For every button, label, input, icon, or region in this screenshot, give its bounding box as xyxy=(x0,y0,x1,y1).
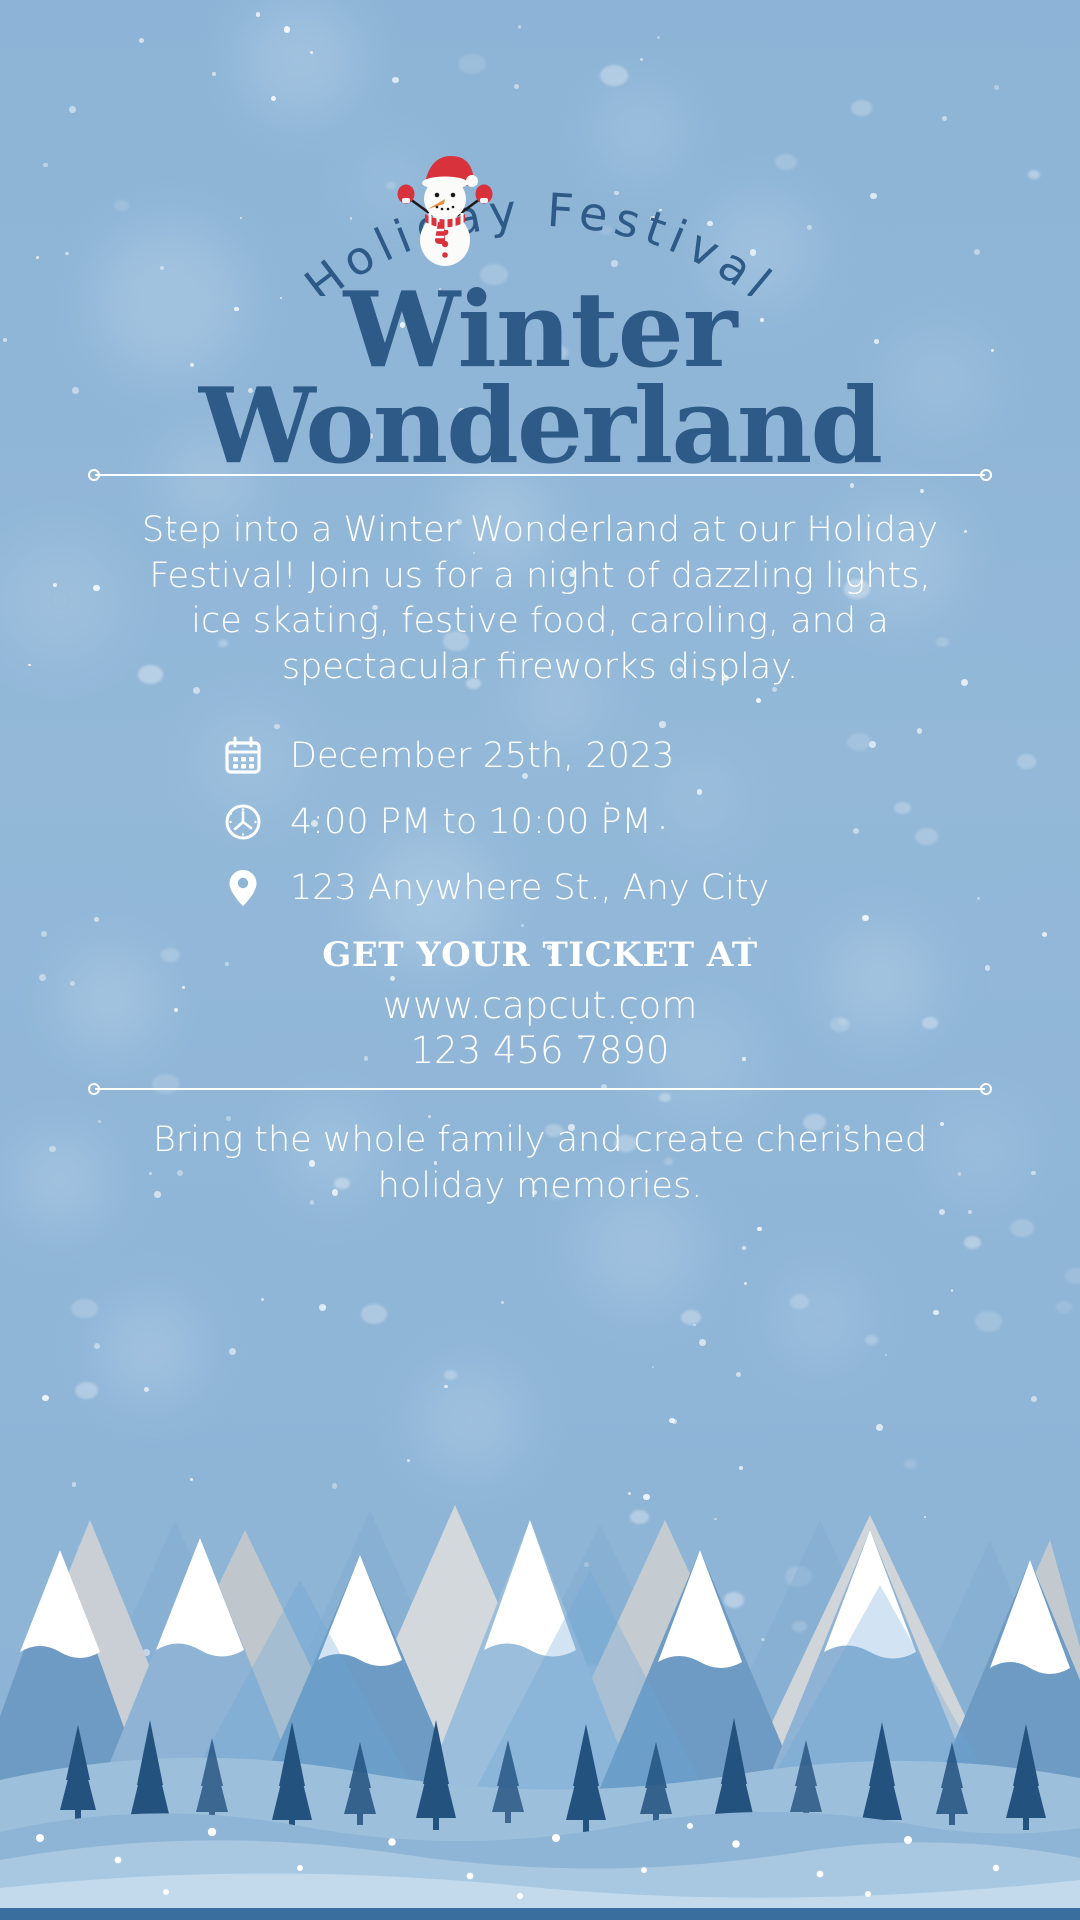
ticket-heading: GET YOUR TICKET AT xyxy=(0,935,1080,975)
ticket-section: GET YOUR TICKET AT www.capcut.com 123 45… xyxy=(0,935,1080,1073)
detail-row-date: December 25th, 2023 xyxy=(0,730,1080,782)
bottom-bar xyxy=(0,1908,1080,1920)
divider-cap-right xyxy=(980,469,992,481)
divider-cap-right xyxy=(980,1083,992,1095)
ticket-website[interactable]: www.capcut.com xyxy=(0,983,1080,1028)
poster-canvas: Holiday Festival xyxy=(0,0,1080,1920)
intro-paragraph: Step into a Winter Wonderland at our Hol… xyxy=(140,508,940,690)
calendar-icon xyxy=(218,731,268,781)
arched-heading: Holiday Festival xyxy=(0,96,1080,296)
detail-row-time: 4:00 PM to 10:00 PM xyxy=(0,796,1080,848)
detail-text-location: 123 Anywhere St., Any City xyxy=(290,868,769,908)
snowman-with-santa-hat-icon xyxy=(392,152,498,270)
page-title: Winter Wonderland xyxy=(0,282,1080,473)
event-details-list: December 25th, 2023 4:00 PM to 10 xyxy=(0,730,1080,928)
divider-top xyxy=(88,468,992,482)
title-line-2: Wonderland xyxy=(0,378,1080,474)
divider-bar xyxy=(95,1088,985,1090)
closing-paragraph: Bring the whole family and create cheris… xyxy=(110,1118,970,1209)
detail-text-date: December 25th, 2023 xyxy=(290,736,674,776)
divider-bottom xyxy=(88,1082,992,1096)
location-pin-icon xyxy=(218,863,268,913)
detail-text-time: 4:00 PM to 10:00 PM xyxy=(290,802,652,842)
clock-icon xyxy=(218,797,268,847)
divider-bar xyxy=(95,474,985,476)
ticket-phone[interactable]: 123 456 7890 xyxy=(0,1028,1080,1073)
detail-row-location: 123 Anywhere St., Any City xyxy=(0,862,1080,914)
winter-landscape-scene xyxy=(0,1220,1080,1920)
